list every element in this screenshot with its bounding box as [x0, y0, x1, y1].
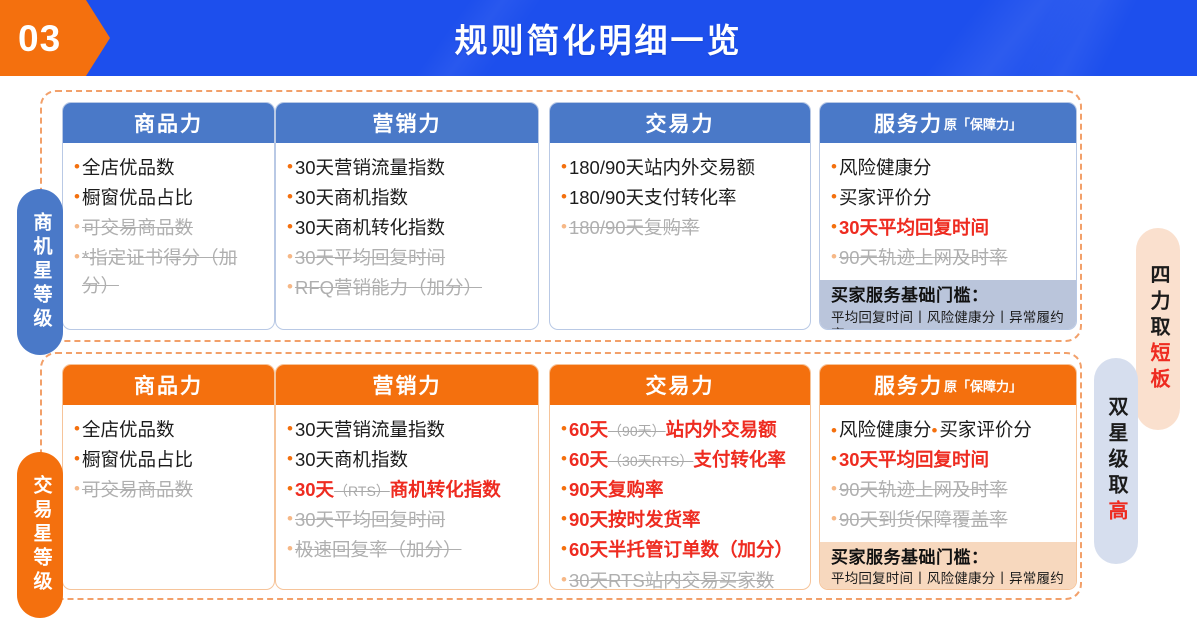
metric-card: 服务力原「保障力」•风险健康分•买家评价分•30天平均回复时间•90天轨迹上网及… [819, 102, 1077, 330]
bullet-dot-icon: • [74, 446, 80, 472]
metric-item: •可交易商品数 [74, 476, 264, 504]
metric-item-label: 30天（RTS）商机转化指数 [295, 476, 528, 504]
card-subtitle: 原「保障力」 [944, 376, 1022, 395]
service-threshold-box: 买家服务基础门槛：平均回复时间丨风险健康分丨异常履约率 [820, 542, 1076, 590]
metric-item: •30天商机指数 [287, 184, 528, 212]
metric-item-label: 180/90天复购率 [569, 214, 800, 242]
side-note-four-forces-prefix: 四力取 [1147, 264, 1169, 342]
card-title: 商品力 [134, 108, 203, 138]
metric-card: 商品力•全店优品数•橱窗优品占比•可交易商品数 [62, 364, 275, 590]
metric-item-label: 30天平均回复时间 [295, 244, 528, 272]
bullet-dot-icon: • [561, 154, 567, 180]
card-subtitle: 原「保障力」 [944, 114, 1022, 133]
bullet-dot-icon: • [287, 416, 293, 442]
metric-item-label: 30天营销流量指数 [295, 416, 528, 444]
metric-item: •风险健康分•买家评价分 [831, 416, 1066, 444]
metric-item: •RFQ营销能力（加分） [287, 274, 528, 302]
metric-item-label: 风险健康分 [839, 419, 932, 440]
metric-item-label: 全店优品数 [82, 154, 264, 182]
metric-item: •60天（30天RTS）支付转化率 [561, 446, 800, 474]
metric-item-label: 30天商机指数 [295, 446, 528, 474]
bullet-dot-icon: • [287, 154, 293, 180]
metric-item-label: 买家评价分 [839, 184, 1066, 212]
bullet-dot-icon: • [831, 214, 837, 240]
bullet-dot-icon: • [74, 184, 80, 210]
bullet-dot-icon: • [831, 418, 837, 444]
card-header: 交易力 [550, 103, 810, 143]
bullet-dot-icon: • [287, 274, 293, 300]
metric-card: 交易力•180/90天站内外交易额•180/90天支付转化率•180/90天复购… [549, 102, 811, 330]
card-header: 服务力原「保障力」 [820, 103, 1076, 143]
bullet-dot-icon: • [931, 421, 937, 440]
metric-item-label: 180/90天站内外交易额 [569, 154, 800, 182]
card-body: •全店优品数•橱窗优品占比•可交易商品数•*指定证书得分（加分） [63, 143, 274, 329]
bullet-dot-icon: • [561, 476, 567, 502]
card-title: 商品力 [134, 370, 203, 400]
bullet-dot-icon: • [831, 184, 837, 210]
metric-item: •30天平均回复时间 [831, 446, 1066, 474]
metric-item: •180/90天支付转化率 [561, 184, 800, 212]
side-note-dual-star-highlight: 高 [1105, 500, 1127, 526]
bullet-dot-icon: • [287, 244, 293, 270]
metric-item-label: 60天（90天）站内外交易额 [569, 416, 800, 444]
bullet-dot-icon: • [287, 536, 293, 562]
metric-card: 营销力•30天营销流量指数•30天商机指数•30天（RTS）商机转化指数•30天… [275, 364, 539, 590]
metric-item-label: 90天轨迹上网及时率 [839, 244, 1066, 272]
metric-item-label: 90天到货保障覆盖率 [839, 506, 1066, 534]
bullet-dot-icon: • [831, 506, 837, 532]
metric-item-label: 风险健康分 [839, 154, 1066, 182]
metric-item-label: 可交易商品数 [82, 476, 264, 504]
metric-item: •*指定证书得分（加分） [74, 244, 264, 300]
metric-item-old-value: （RTS） [334, 483, 390, 499]
metric-item: •可交易商品数 [74, 214, 264, 242]
card-body: •60天（90天）站内外交易额•60天（30天RTS）支付转化率•90天复购率•… [550, 405, 810, 590]
metric-item-old-value: （30天RTS） [608, 453, 693, 469]
bullet-dot-icon: • [561, 416, 567, 442]
bullet-dot-icon: • [561, 506, 567, 532]
card-header: 营销力 [276, 103, 538, 143]
bullet-dot-icon: • [287, 506, 293, 532]
metric-item-label: 30天商机转化指数 [295, 214, 528, 242]
metric-item-label: 60天半托管订单数（加分） [569, 536, 800, 564]
content-canvas: 商机星等级 交易星等级 四力取短板 双星级取高 商品力•全店优品数•橱窗优品占比… [0, 76, 1197, 604]
card-title: 营销力 [373, 370, 442, 400]
metric-item-label: 60天（30天RTS）支付转化率 [569, 446, 800, 474]
metric-item: •90天轨迹上网及时率 [831, 244, 1066, 272]
metric-item: •橱窗优品占比 [74, 446, 264, 474]
bullet-dot-icon: • [287, 214, 293, 240]
metric-item: •买家评价分 [831, 184, 1066, 212]
card-header: 商品力 [63, 103, 274, 143]
metric-item-label-secondary: 买家评价分 [939, 419, 1032, 440]
metric-card: 交易力•60天（90天）站内外交易额•60天（30天RTS）支付转化率•90天复… [549, 364, 811, 590]
card-title: 交易力 [646, 370, 715, 400]
bullet-dot-icon: • [74, 416, 80, 442]
metric-item-label: 90天复购率 [569, 476, 800, 504]
metric-item-label: 30天商机指数 [295, 184, 528, 212]
metric-item: •风险健康分 [831, 154, 1066, 182]
metric-item: •90天按时发货率 [561, 506, 800, 534]
page-header: 规则简化明细一览 03 [0, 0, 1197, 76]
metric-item: •180/90天复购率 [561, 214, 800, 242]
metric-item: •30天营销流量指数 [287, 416, 528, 444]
card-title: 服务力 [874, 370, 943, 400]
bullet-dot-icon: • [561, 446, 567, 472]
metric-item: •180/90天站内外交易额 [561, 154, 800, 182]
side-note-dual-star: 双星级取高 [1094, 358, 1138, 564]
metric-card: 服务力原「保障力」•风险健康分•买家评价分•30天平均回复时间•90天轨迹上网及… [819, 364, 1077, 590]
metric-item-old-value: （90天） [608, 423, 666, 439]
metric-item: •全店优品数 [74, 154, 264, 182]
metric-item-label: 可交易商品数 [82, 214, 264, 242]
metric-item-new-value: 30天 [295, 479, 334, 500]
card-header: 服务力原「保障力」 [820, 365, 1076, 405]
metric-item-label: 30天平均回复时间 [295, 506, 528, 534]
metric-item-label: 风险健康分•买家评价分 [839, 416, 1066, 444]
metric-item: •30天平均回复时间 [831, 214, 1066, 242]
metric-item-name: 站内外交易额 [666, 419, 777, 440]
metric-item: •30天（RTS）商机转化指数 [287, 476, 528, 504]
metric-item-label: 橱窗优品占比 [82, 184, 264, 212]
metric-item-label: *指定证书得分（加分） [82, 244, 264, 300]
metric-item-label: 全店优品数 [82, 416, 264, 444]
bullet-dot-icon: • [831, 154, 837, 180]
side-note-four-forces: 四力取短板 [1136, 228, 1180, 430]
metric-item-new-value: 60天 [569, 449, 608, 470]
metric-item: •30天商机指数 [287, 446, 528, 474]
bullet-dot-icon: • [74, 154, 80, 180]
metric-item: •90天到货保障覆盖率 [831, 506, 1066, 534]
metric-item-new-value: 60天 [569, 419, 608, 440]
metric-item-label: RFQ营销能力（加分） [295, 274, 528, 302]
metric-item: •60天半托管订单数（加分） [561, 536, 800, 564]
metric-item-label: 30天平均回复时间 [839, 446, 1066, 474]
card-title: 服务力 [874, 108, 943, 138]
metric-item-label: 30天平均回复时间 [839, 214, 1066, 242]
metric-item-label: 90天轨迹上网及时率 [839, 476, 1066, 504]
card-body: •风险健康分•买家评价分•30天平均回复时间•90天轨迹上网及时率 [820, 143, 1076, 280]
metric-item: •橱窗优品占比 [74, 184, 264, 212]
card-body: •全店优品数•橱窗优品占比•可交易商品数 [63, 405, 274, 589]
metric-item-label: 30天RTS站内交易买家数 [569, 567, 800, 590]
bullet-dot-icon: • [74, 214, 80, 240]
card-body: •180/90天站内外交易额•180/90天支付转化率•180/90天复购率 [550, 143, 810, 329]
metric-item: •30天RTS站内交易买家数 [561, 567, 800, 590]
card-title: 营销力 [373, 108, 442, 138]
bullet-dot-icon: • [74, 476, 80, 502]
service-threshold-box: 买家服务基础门槛：平均回复时间丨风险健康分丨异常履约率 [820, 280, 1076, 330]
bullet-dot-icon: • [287, 184, 293, 210]
metric-item-label: 90天按时发货率 [569, 506, 800, 534]
metric-item: •90天复购率 [561, 476, 800, 504]
metric-item-label: 橱窗优品占比 [82, 446, 264, 474]
bullet-dot-icon: • [561, 214, 567, 240]
side-note-dual-star-prefix: 双星级取 [1105, 396, 1127, 500]
bullet-dot-icon: • [831, 244, 837, 270]
threshold-detail: 平均回复时间丨风险健康分丨异常履约率 [831, 309, 1067, 330]
bullet-dot-icon: • [74, 244, 80, 270]
metric-item: •60天（90天）站内外交易额 [561, 416, 800, 444]
metric-item-label: 30天营销流量指数 [295, 154, 528, 182]
bullet-dot-icon: • [561, 184, 567, 210]
metric-item: •30天平均回复时间 [287, 506, 528, 534]
metric-item: •30天商机转化指数 [287, 214, 528, 242]
card-body: •30天营销流量指数•30天商机指数•30天（RTS）商机转化指数•30天平均回… [276, 405, 538, 589]
side-label-opportunity-star: 商机星等级 [17, 189, 63, 355]
card-header: 交易力 [550, 365, 810, 405]
threshold-title: 买家服务基础门槛： [831, 285, 1067, 307]
card-header: 商品力 [63, 365, 274, 405]
metric-item-name: 支付转化率 [693, 449, 786, 470]
card-body: •风险健康分•买家评价分•30天平均回复时间•90天轨迹上网及时率•90天到货保… [820, 405, 1076, 542]
metric-item-name: 商机转化指数 [390, 479, 501, 500]
metric-item: •90天轨迹上网及时率 [831, 476, 1066, 504]
metric-item: •30天营销流量指数 [287, 154, 528, 182]
threshold-detail: 平均回复时间丨风险健康分丨异常履约率 [831, 570, 1067, 590]
threshold-title: 买家服务基础门槛： [831, 547, 1067, 569]
metric-card: 商品力•全店优品数•橱窗优品占比•可交易商品数•*指定证书得分（加分） [62, 102, 275, 330]
side-label-transaction-star: 交易星等级 [17, 452, 63, 618]
bullet-dot-icon: • [831, 446, 837, 472]
card-title: 交易力 [646, 108, 715, 138]
metric-item: •30天平均回复时间 [287, 244, 528, 272]
metric-item-label: 极速回复率（加分） [295, 536, 528, 564]
metric-item: •全店优品数 [74, 416, 264, 444]
bullet-dot-icon: • [561, 536, 567, 562]
section-number-label: 03 [18, 20, 61, 57]
metric-item: •极速回复率（加分） [287, 536, 528, 564]
card-body: •30天营销流量指数•30天商机指数•30天商机转化指数•30天平均回复时间•R… [276, 143, 538, 329]
metric-item-label: 180/90天支付转化率 [569, 184, 800, 212]
page-title: 规则简化明细一览 [0, 0, 1197, 76]
bullet-dot-icon: • [287, 476, 293, 502]
metric-card: 营销力•30天营销流量指数•30天商机指数•30天商机转化指数•30天平均回复时… [275, 102, 539, 330]
side-note-four-forces-highlight: 短板 [1147, 342, 1169, 394]
card-header: 营销力 [276, 365, 538, 405]
bullet-dot-icon: • [287, 446, 293, 472]
bullet-dot-icon: • [831, 476, 837, 502]
bullet-dot-icon: • [561, 567, 567, 590]
